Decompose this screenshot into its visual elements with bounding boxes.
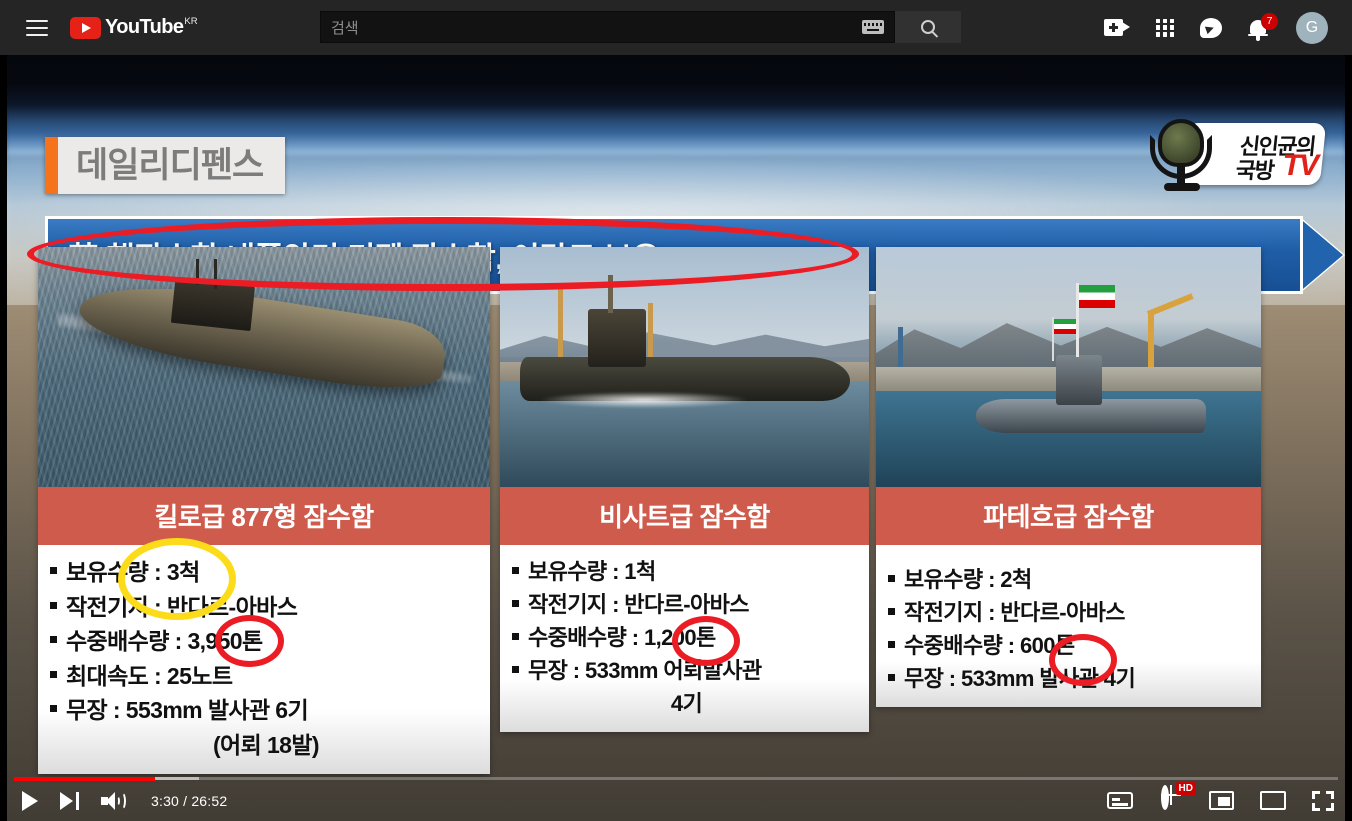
theater-mode-icon[interactable] (1260, 791, 1286, 810)
search-button[interactable] (895, 11, 961, 43)
volume-icon[interactable] (101, 791, 125, 811)
channel-logo-line2: 국방 (1234, 153, 1275, 185)
notification-count-badge: 7 (1261, 13, 1278, 30)
youtube-logo-text: YouTube (105, 17, 183, 38)
kilo-class-submarine-photo (38, 247, 490, 487)
spec-continuation: (어뢰 18발) (48, 728, 484, 763)
banner-arrow-tip (1297, 216, 1343, 294)
spec-row: 수중배수량 : 600톤 (886, 629, 1255, 662)
play-icon[interactable] (22, 791, 38, 811)
bullet-icon (888, 674, 895, 681)
video-slide: 데일리디펜스 신인균의 국방 TV 英 핵잠수함 내쫓았던 디젤 잠수함, 이란… (7, 55, 1345, 821)
iran-flag-icon (1079, 285, 1115, 308)
bullet-icon (50, 636, 57, 643)
bullet-icon (512, 666, 519, 673)
notifications-button[interactable]: 7 (1248, 17, 1270, 39)
panel-specs: 보유수량 : 1척 작전기지 : 반다르-아바스 수중배수량 : 1,200톤 … (500, 545, 869, 732)
search-icon (921, 20, 935, 34)
miniplayer-icon[interactable] (1209, 791, 1234, 810)
create-video-icon[interactable] (1104, 19, 1130, 36)
bullet-icon (888, 608, 895, 615)
hd-badge: HD (1176, 782, 1196, 795)
spec-continuation: 4기 (510, 687, 863, 720)
program-tag-label: 데일리디펜스 (58, 137, 285, 194)
youtube-logo[interactable]: YouTube KR (70, 17, 198, 39)
spec-row: 무장 : 533mm 발사관 4기 (886, 662, 1255, 695)
fateh-class-submarine-photo (876, 247, 1261, 487)
spec-row: 작전기지 : 반다르-아바스 (48, 590, 484, 625)
bullet-icon (50, 567, 57, 574)
panel-specs: 보유수량 : 2척 작전기지 : 반다르-아바스 수중배수량 : 600톤 무장… (876, 545, 1261, 707)
spec-row: 작전기지 : 반다르-아바스 (886, 596, 1255, 629)
next-video-icon[interactable] (60, 792, 79, 810)
keyboard-icon[interactable] (862, 20, 884, 34)
panel-title: 킬로급 877형 잠수함 (38, 487, 490, 545)
iran-flag-small-icon (1054, 319, 1078, 334)
youtube-country-code: KR (184, 17, 197, 27)
subtitles-icon[interactable] (1107, 792, 1133, 809)
bullet-icon (50, 671, 57, 678)
bullet-icon (888, 641, 895, 648)
microphone-base (1164, 183, 1200, 191)
youtube-masthead: YouTube KR 검색 7 G (0, 0, 1352, 55)
program-tag-accent-bar (45, 137, 58, 194)
spec-row: 수중배수량 : 1,200톤 (510, 621, 863, 654)
spec-row: 무장 : 533mm 어뢰발사관 (510, 654, 863, 687)
messages-icon[interactable] (1200, 18, 1222, 38)
time-display: 3:30 / 26:52 (151, 793, 227, 809)
submarine-panel-kilo: 킬로급 877형 잠수함 보유수량 : 3척 작전기지 : 반다르-아바스 수중… (38, 247, 490, 774)
settings-gear-icon[interactable]: HD (1159, 789, 1183, 813)
spec-row: 보유수량 : 3척 (48, 555, 484, 590)
spec-row: 최대속도 : 25노트 (48, 659, 484, 694)
search-input[interactable]: 검색 (320, 11, 895, 43)
search-placeholder: 검색 (331, 17, 862, 38)
spec-row: 무장 : 553mm 발사관 6기 (48, 693, 484, 728)
video-player[interactable]: 데일리디펜스 신인균의 국방 TV 英 핵잠수함 내쫓았던 디젤 잠수함, 이란… (0, 55, 1352, 821)
hamburger-menu-icon[interactable] (26, 20, 48, 36)
avatar[interactable]: G (1296, 12, 1328, 44)
submarine-panels: 킬로급 877형 잠수함 보유수량 : 3척 작전기지 : 반다르-아바스 수중… (38, 247, 1262, 765)
submarine-panel-fateh: 파테흐급 잠수함 보유수량 : 2척 작전기지 : 반다르-아바스 수중배수량 … (876, 247, 1261, 707)
microphone-stem (1177, 165, 1185, 185)
bullet-icon (512, 600, 519, 607)
bullet-icon (50, 705, 57, 712)
spec-row: 작전기지 : 반다르-아바스 (510, 588, 863, 621)
bullet-icon (50, 602, 57, 609)
bullet-icon (888, 575, 895, 582)
program-tag: 데일리디펜스 (45, 137, 285, 194)
bullet-icon (512, 633, 519, 640)
panel-title: 파테흐급 잠수함 (876, 487, 1261, 545)
besat-class-submarine-photo (500, 247, 869, 487)
spec-row: 수중배수량 : 3,950톤 (48, 624, 484, 659)
spec-row: 보유수량 : 1척 (510, 555, 863, 588)
bullet-icon (512, 567, 519, 574)
channel-logo: 신인균의 국방 TV (1148, 115, 1323, 197)
channel-logo-tv: TV (1283, 149, 1317, 183)
youtube-play-icon (70, 17, 101, 39)
player-controls: 3:30 / 26:52 HD (0, 775, 1352, 821)
panel-specs: 보유수량 : 3척 작전기지 : 반다르-아바스 수중배수량 : 3,950톤 … (38, 545, 490, 774)
spec-row: 보유수량 : 2척 (886, 563, 1255, 596)
fullscreen-icon[interactable] (1312, 791, 1334, 811)
panel-title: 비사트급 잠수함 (500, 487, 869, 545)
apps-grid-icon[interactable] (1156, 19, 1174, 37)
submarine-panel-besat: 비사트급 잠수함 보유수량 : 1척 작전기지 : 반다르-아바스 수중배수량 … (500, 247, 869, 732)
